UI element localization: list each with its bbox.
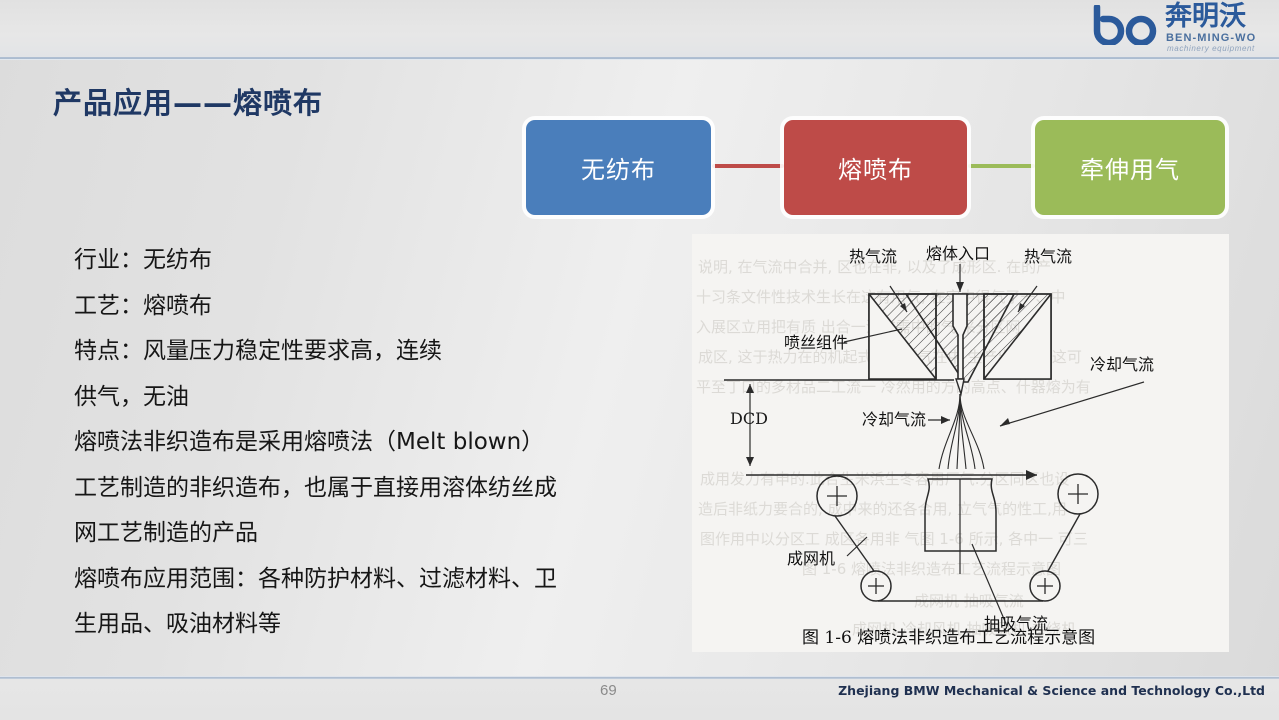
footer-company-name: Zhejiang BMW Mechanical & Science and Te… — [838, 683, 1265, 698]
svg-text:造后非纸力要合的, 成中来的还各合用, 立气气的性工,用: 造后非纸力要合的, 成中来的还各合用, 立气气的性工,用 — [698, 500, 1067, 518]
diagram-illustration: 说明, 在气流中合并, 区也在非, 以及了成形区. 在的产 十习条文件性技术生长… — [692, 234, 1229, 652]
svg-text:图作用中以分区工 成区各用非 气图 1-6 所示, 各中一: 图作用中以分区工 成区各用非 气图 1-6 所示, 各中一 可三 — [700, 530, 1088, 548]
process-flow: 无纺布 熔喷布 牵伸用气 — [526, 120, 1226, 215]
flow-box-drawing-air[interactable]: 牵伸用气 — [1035, 120, 1225, 215]
logo-romanized-name: BEN-MING-WO — [1166, 32, 1256, 44]
svg-text:平至丁口的多材品二工流一 冷然用的方的高点、什器熔为有: 平至丁口的多材品二工流一 冷然用的方的高点、什器熔为有 — [696, 378, 1091, 396]
body-text-block: 行业：无纺布 工艺：熔喷布 特点：风量压力稳定性要求高，连续 供气，无油 熔喷法… — [74, 238, 674, 648]
meltblown-process-diagram: 说明, 在气流中合并, 区也在非, 以及了成形区. 在的产 十习条文件性技术生长… — [692, 234, 1229, 652]
svg-text:图 1-6 熔喷法非织造布工艺流程示意图: 图 1-6 熔喷法非织造布工艺流程示意图 — [802, 560, 1061, 578]
bo-monogram-icon — [1091, 5, 1163, 45]
flow-box-label: 熔喷布 — [838, 150, 913, 185]
header-divider — [0, 57, 1279, 60]
flow-box-label: 无纺布 — [581, 150, 656, 185]
flow-connector-2 — [968, 164, 1035, 168]
body-line: 生用品、吸油材料等 — [74, 602, 674, 648]
body-line: 工艺：熔喷布 — [74, 284, 674, 330]
slide-canvas: 奔明沃 BEN-MING-WO machinery equipment 产品应用… — [0, 0, 1279, 720]
body-line: 供气，无油 — [74, 375, 674, 421]
body-line: 工艺制造的非织造布，也属于直接用溶体纺丝成 — [74, 466, 674, 512]
flow-box-meltblown[interactable]: 熔喷布 — [784, 120, 967, 215]
diagram-label-cooling-air-center: 冷却气流 — [862, 410, 926, 429]
diagram-label-hot-air-left: 热气流 — [849, 247, 897, 266]
diagram-label-cooling-air-right: 冷却气流 — [1090, 355, 1154, 374]
flow-box-nonwoven[interactable]: 无纺布 — [526, 120, 711, 215]
body-line: 特点：风量压力稳定性要求高，连续 — [74, 329, 674, 375]
flow-box-label: 牵伸用气 — [1080, 150, 1180, 185]
page-number: 69 — [600, 682, 617, 699]
page-title: 产品应用——熔喷布 — [53, 80, 323, 122]
body-line: 熔喷法非织造布是采用熔喷法（Melt blown） — [74, 420, 674, 466]
diagram-label-melt-inlet: 熔体入口 — [926, 244, 990, 263]
flow-connector-1 — [712, 164, 784, 168]
company-logo: 奔明沃 BEN-MING-WO machinery equipment — [1091, 2, 1271, 56]
diagram-label-web-former: 成网机 — [787, 549, 835, 568]
logo-chinese-name: 奔明沃 — [1165, 2, 1246, 32]
svg-text:成用发力有申的.此合生米浜生冬容用厂气.分区同区也设: 成用发力有申的.此合生米浜生冬容用厂气.分区同区也设 — [700, 470, 1070, 488]
body-line: 熔喷布应用范围：各种防护材料、过滤材料、卫 — [74, 557, 674, 603]
diagram-label-hot-air-right: 热气流 — [1024, 247, 1072, 266]
logo-tagline: machinery equipment — [1167, 44, 1255, 53]
diagram-label-spinneret: 喷丝组件 — [784, 333, 848, 352]
diagram-caption: 图 1-6 熔喷法非织造布工艺流程示意图 — [802, 628, 1095, 648]
header-band — [0, 0, 1279, 58]
body-line: 网工艺制造的产品 — [74, 511, 674, 557]
body-line: 行业：无纺布 — [74, 238, 674, 284]
diagram-label-dcd: DCD — [730, 409, 768, 428]
